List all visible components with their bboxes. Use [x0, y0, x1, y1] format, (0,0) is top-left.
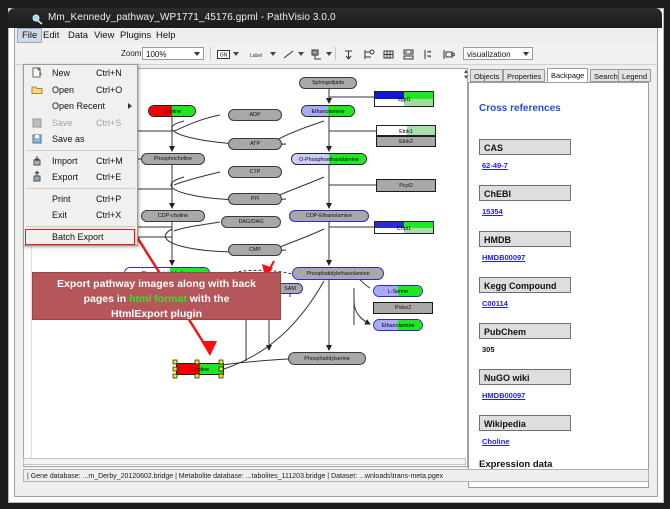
menu-help[interactable]: Help: [152, 29, 180, 42]
annotation-line-2-pre: pages in: [84, 293, 130, 305]
node-ctp[interactable]: CTP: [228, 166, 282, 178]
screenshot-root: Mm_Kennedy_pathway_WP1771_45176.gpml - P…: [0, 0, 670, 509]
receptor-dropdown-icon[interactable]: [326, 52, 332, 56]
menu-item-batch-export[interactable]: Batch Export: [24, 229, 137, 246]
xref-db-cas: CAS: [479, 139, 571, 155]
label-tool-icon[interactable]: Label: [243, 46, 269, 63]
menu-separator: [26, 150, 135, 151]
gene-label: Chpt1: [375, 226, 433, 232]
node-choline-top[interactable]: Choline: [148, 105, 196, 117]
menu-item-new[interactable]: New Ctrl+N: [24, 65, 137, 82]
node-phosphatidylethanolamine[interactable]: Phosphatidylethanolamine: [292, 267, 384, 280]
label-dropdown-icon[interactable]: [270, 52, 276, 56]
gene-etnk1[interactable]: Etnk1: [376, 125, 436, 136]
visualization-combo[interactable]: visualization: [463, 47, 533, 60]
file-menu-popup[interactable]: New Ctrl+N Open Ctrl+O Open Recent Save …: [23, 64, 138, 246]
cross-references-heading: Cross references: [479, 103, 561, 114]
datanode-tool-icon[interactable]: GN: [215, 46, 232, 63]
panel-tabstrip: ▲▼ Objects Properties Backpage Search Le…: [468, 68, 649, 82]
chevron-down-icon: [523, 52, 529, 56]
align-top-tool-icon[interactable]: [340, 46, 357, 63]
receptor-tool-icon[interactable]: [308, 46, 325, 63]
node-ppi[interactable]: PPi: [228, 193, 282, 205]
xref-db-chebi: ChEBI: [479, 185, 571, 201]
menu-data[interactable]: Data: [64, 29, 92, 42]
svg-text:Label: Label: [250, 53, 262, 59]
save-as-icon: [31, 133, 43, 145]
node-choline-selected[interactable]: Choline: [176, 363, 224, 375]
menu-item-save: Save Ctrl+S: [24, 115, 137, 132]
pathvisio-icon: [32, 13, 43, 24]
annotation-line-1: Export pathway images along with back: [33, 277, 280, 292]
menu-bar: File Edit Data View Plugins Help: [15, 28, 657, 44]
node-cdp-ethanolamine[interactable]: CDP-Ethanolamine: [289, 210, 369, 222]
distribute-tool-icon[interactable]: [400, 46, 417, 63]
xref-db-hmdb: HMDB: [479, 231, 571, 247]
menu-item-open-recent[interactable]: Open Recent: [24, 98, 137, 115]
gene-etnk2[interactable]: Etnk2: [376, 136, 436, 147]
xref-value-wikipedia[interactable]: Choline: [482, 437, 510, 446]
node-label: L-Serine: [374, 289, 422, 295]
gene-ptdss2[interactable]: Ptdss2: [373, 302, 433, 314]
new-file-icon: [31, 67, 43, 79]
node-phosphocholine[interactable]: Phosphocholine: [141, 153, 205, 165]
node-label: Ethanolamine: [302, 109, 354, 115]
annotation-line-3: HtmlExport plugin: [33, 307, 280, 322]
import-icon: [31, 155, 43, 167]
align-left-tool-icon[interactable]: [360, 46, 377, 63]
visualization-value: visualization: [467, 50, 511, 59]
common-width-tool-icon[interactable]: [440, 46, 457, 63]
xref-value-chebi[interactable]: 15354: [482, 207, 503, 216]
canvas-hscrollbar[interactable]: [23, 458, 466, 465]
menu-item-open[interactable]: Open Ctrl+O: [24, 82, 137, 99]
window-title: Mm_Kennedy_pathway_WP1771_45176.gpml - P…: [48, 8, 336, 28]
xref-db-kegg: Kegg Compound: [479, 277, 571, 293]
backpage-content: Cross references CAS 62-49-7 ChEBI 15354…: [468, 82, 649, 488]
menu-item-exit[interactable]: Exit Ctrl+X: [24, 207, 137, 224]
xref-value-cas[interactable]: 62-49-7: [482, 161, 508, 170]
line-dropdown-icon[interactable]: [298, 52, 304, 56]
node-label: O-Phosphoethanolamine: [292, 157, 366, 163]
selection-handles[interactable]: [171, 358, 229, 380]
side-panel: ▲▼ Objects Properties Backpage Search Le…: [468, 68, 649, 488]
xref-db-wikipedia: Wikipedia: [479, 415, 571, 431]
menu-item-import[interactable]: Import Ctrl+M: [24, 153, 137, 170]
node-ethanolamine[interactable]: Ethanolamine: [301, 105, 355, 117]
gene-pcyt2[interactable]: Pcyt2: [376, 179, 436, 192]
xref-value-hmdb[interactable]: HMDB00097: [482, 253, 525, 262]
xref-value-pubchem: 305: [482, 345, 495, 354]
node-adp[interactable]: ADP: [228, 109, 282, 121]
tab-scroll-icon[interactable]: ▲▼: [463, 69, 469, 81]
save-icon: [31, 117, 43, 129]
gene-chpt1[interactable]: Chpt1: [374, 221, 434, 234]
line-tool-icon[interactable]: [280, 46, 297, 63]
xref-value-nugo[interactable]: HMDB00097: [482, 391, 525, 400]
zoom-label: Zoom:: [121, 49, 144, 58]
tab-properties[interactable]: Properties: [503, 69, 545, 82]
tab-search[interactable]: Search: [590, 69, 622, 82]
tab-backpage[interactable]: Backpage: [547, 68, 588, 82]
node-phosphatidylserine[interactable]: Phosphatidylserine: [288, 352, 366, 365]
xref-db-nugo: NuGO wiki: [479, 369, 571, 385]
application-window: File Edit Data View Plugins Help Zoom: 1…: [14, 28, 658, 497]
zoom-value: 100%: [146, 50, 166, 59]
open-folder-icon: [31, 84, 43, 96]
gene-sgpl1[interactable]: Sgpl1: [374, 91, 434, 107]
menu-separator: [26, 188, 135, 189]
zoom-combo[interactable]: 100%: [142, 47, 204, 60]
annotation-line-2-post: with the: [187, 293, 230, 305]
xref-value-kegg[interactable]: C00114: [482, 299, 508, 308]
xref-db-pubchem: PubChem: [479, 323, 571, 339]
gene-label: Etnk1: [377, 129, 435, 135]
node-atp[interactable]: ATP: [228, 138, 282, 150]
node-l-serine[interactable]: L-Serine: [373, 285, 423, 297]
node-cdp-choline[interactable]: CDP-choline: [141, 210, 205, 222]
node-sphingolipids[interactable]: Sphingolipids: [299, 77, 357, 89]
annotation-line-2: pages in html format with the: [33, 292, 280, 307]
annotation-callout: Export pathway images along with back pa…: [32, 272, 281, 320]
datanode-dropdown-icon[interactable]: [233, 52, 239, 56]
menu-view[interactable]: View: [90, 29, 118, 42]
menu-item-save-as[interactable]: Save as: [24, 131, 137, 148]
tab-objects[interactable]: Objects: [470, 69, 503, 82]
node-dag[interactable]: DAG/DAG: [221, 216, 281, 228]
menu-item-print[interactable]: Print Ctrl+P: [24, 191, 137, 208]
title-bar: Mm_Kennedy_pathway_WP1771_45176.gpml - P…: [8, 8, 662, 28]
menu-item-export[interactable]: Export Ctrl+E: [24, 169, 137, 186]
node-label: Ethanolamine: [374, 323, 422, 329]
menu-plugins[interactable]: Plugins: [116, 29, 155, 42]
export-icon: [31, 171, 43, 183]
menu-separator: [26, 226, 135, 227]
node-ethanolamine-2[interactable]: Ethanolamine: [373, 319, 423, 331]
node-o-phosphoethanolamine[interactable]: O-Phosphoethanolamine: [291, 153, 367, 165]
align-center-tool-icon[interactable]: [380, 46, 397, 63]
gene-label: Sgpl1: [375, 97, 433, 103]
stack-tool-icon[interactable]: [420, 46, 437, 63]
submenu-arrow-icon: [128, 103, 132, 109]
node-label: Choline: [149, 109, 195, 115]
toolbar: Zoom: 100% GN Label: [15, 43, 657, 65]
menu-edit[interactable]: Edit: [39, 29, 63, 42]
status-bar: | Gene database: ...m_Derby_20120602.bri…: [23, 469, 649, 482]
node-cmp[interactable]: CMP: [228, 244, 282, 256]
annotation-highlight: html format: [129, 293, 187, 305]
svg-text:GN: GN: [220, 53, 228, 59]
chevron-down-icon: [194, 52, 200, 56]
tab-legend[interactable]: Legend: [618, 69, 651, 82]
